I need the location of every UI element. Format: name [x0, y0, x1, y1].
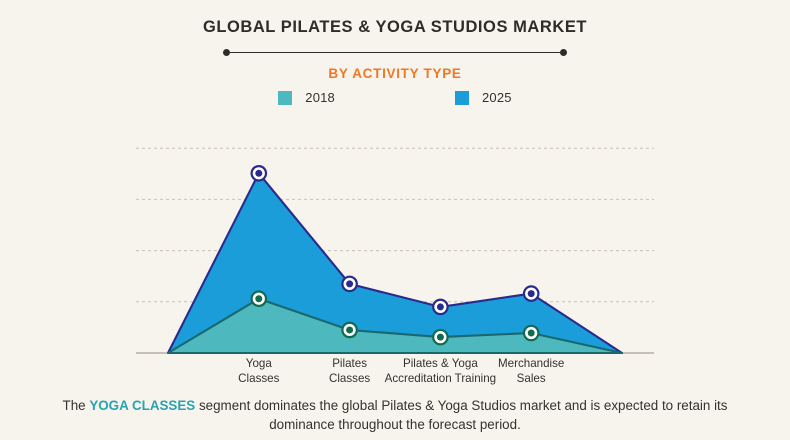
caption-after: segment dominates the global Pilates & Y…	[195, 398, 727, 432]
series-areas-group	[168, 173, 622, 353]
infographic-canvas: Global Pilates & Yoga Studios Market By …	[0, 0, 790, 440]
data-point-2018-0[interactable]	[255, 295, 262, 302]
data-point-2025-0[interactable]	[255, 170, 262, 177]
caption-before: The	[63, 398, 90, 413]
x-axis-label-2: Pilates & YogaAccreditation Training	[385, 357, 497, 387]
caption-highlight: YOGA CLASSES	[89, 398, 195, 413]
x-axis-label-0: YogaClasses	[238, 357, 279, 387]
data-point-2025-3[interactable]	[528, 290, 535, 297]
x-axis-label-1: PilatesClasses	[329, 357, 370, 387]
data-point-2018-3[interactable]	[528, 330, 535, 337]
x-axis-label-3: MerchandiseSales	[498, 357, 564, 387]
chart-caption: The YOGA CLASSES segment dominates the g…	[0, 396, 790, 435]
data-point-2018-1[interactable]	[346, 326, 353, 333]
data-point-2025-1[interactable]	[346, 280, 353, 287]
x-axis-labels: YogaClassesPilatesClassesPilates & YogaA…	[0, 357, 790, 393]
data-point-2025-2[interactable]	[437, 303, 444, 310]
data-point-2018-2[interactable]	[437, 334, 444, 341]
